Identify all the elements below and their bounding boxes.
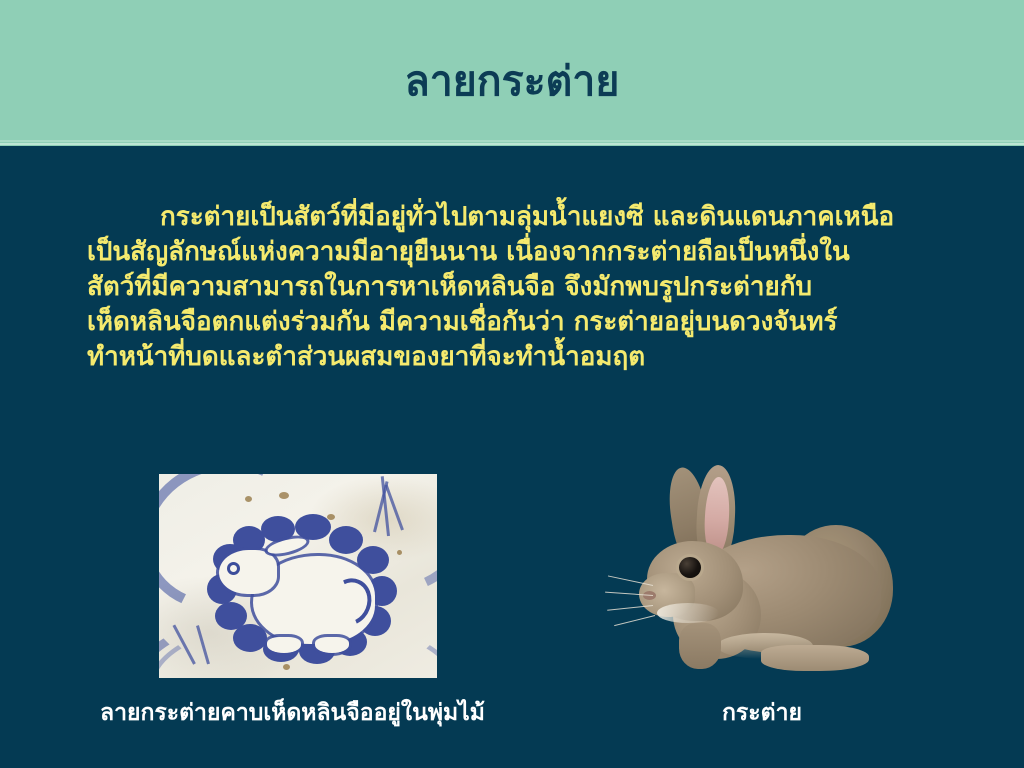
body-line-4: เห็ดหลินจือตกแต่งร่วมกัน มีความเชื่อกันว… (87, 305, 957, 340)
body-line-1: กระต่ายเป็นสัตว์ที่มีอยู่ทั่วไปตามลุ่มน้… (87, 200, 957, 235)
rabbit-hind-foot (761, 645, 869, 671)
porcelain-hare-eye (227, 562, 240, 575)
rabbit-cheek-patch (657, 603, 719, 623)
porcelain-rabbit-image (159, 474, 437, 678)
caption-rabbit: กระต่าย (722, 698, 802, 728)
porcelain-hare-foreleg (267, 637, 301, 653)
caption-porcelain: ลายกระต่ายคาบเห็ดหลินจืออยู่ในพุ่มไม้ (100, 698, 485, 728)
body-line-3: สัตว์ที่มีความสามารถในการหาเห็ดหลินจือ จ… (87, 270, 957, 305)
rabbit-eye (679, 557, 701, 578)
rabbit-photo (613, 463, 903, 680)
porcelain-hare-hindleg (315, 637, 349, 653)
porcelain-speck-4 (397, 550, 402, 555)
body-line-5: ทำหน้าที่บดและตำส่วนผสมของยาที่จะทำน้ำอม… (87, 340, 957, 375)
porcelain-hare-head (219, 550, 277, 594)
porcelain-speck-5 (283, 664, 290, 670)
porcelain-speck-1 (245, 496, 252, 502)
header-stripe-upper (0, 140, 1024, 142)
porcelain-figure (159, 474, 437, 678)
body-paragraph: กระต่ายเป็นสัตว์ที่มีอยู่ทั่วไปตามลุ่มน้… (87, 200, 957, 375)
presentation-slide: ลายกระต่าย กระต่ายเป็นสัตว์ที่มีอยู่ทั่ว… (0, 0, 1024, 768)
body-line-2: เป็นสัญลักษณ์แห่งความมีอายุยืนนาน เนื่อง… (87, 235, 957, 270)
rabbit-foreleg (679, 623, 721, 669)
header-stripe-lower (0, 143, 1024, 145)
porcelain-speck-2 (279, 492, 289, 499)
page-title: ลายกระต่าย (0, 56, 1024, 106)
rabbit-whisker-4 (614, 615, 655, 626)
porcelain-hare-body (253, 556, 375, 644)
porcelain-speck-3 (327, 514, 335, 520)
